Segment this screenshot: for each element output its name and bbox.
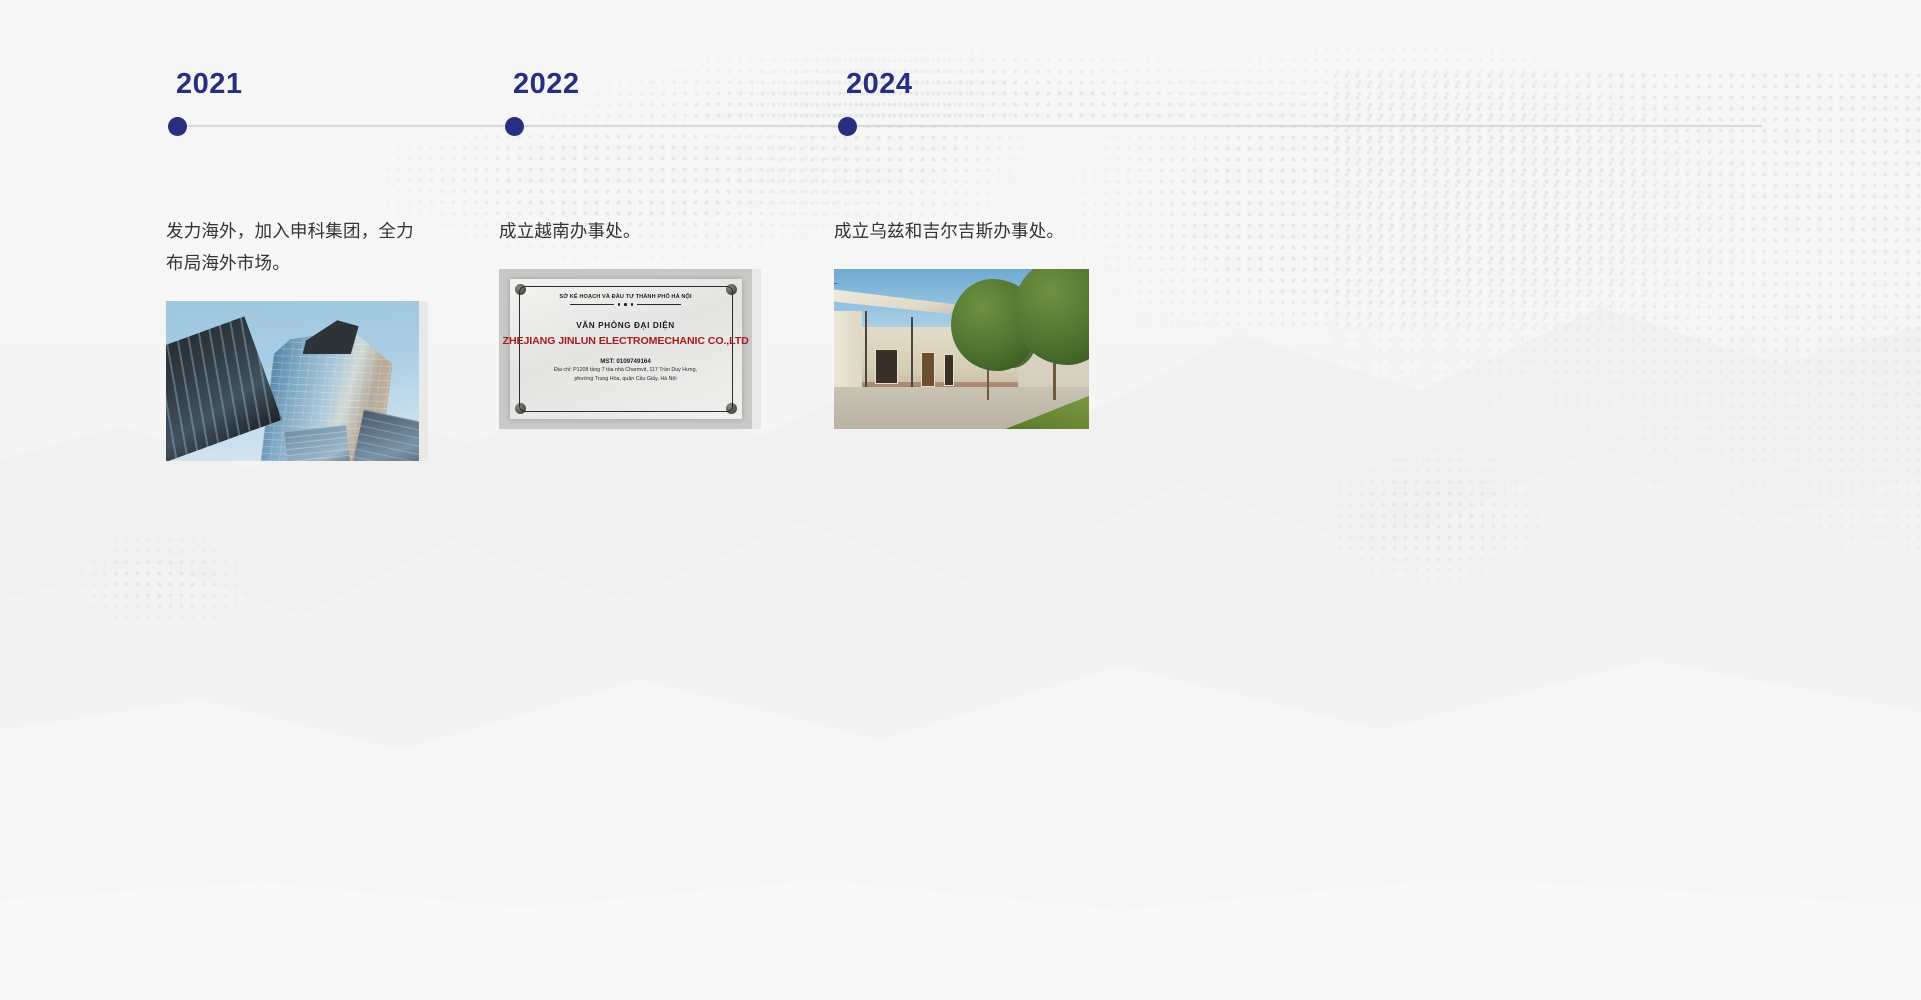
plaque-tax-code: MST: 0109749164 (600, 358, 651, 365)
plaque-board: SỞ KẾ HOẠCH VÀ ĐẦU TƯ THÀNH PHỐ HÀ NỘI V… (510, 279, 742, 419)
milestone-item-2021: 发力海外，加入申科集团，全力布局海外市场。 (166, 215, 428, 461)
milestone-item-2024: 成立乌兹和吉尔吉斯办事处。 (834, 215, 1134, 429)
plaque-photo-canvas: SỞ KẾ HOẠCH VÀ ĐẦU TƯ THÀNH PHỐ HÀ NỘI V… (499, 269, 752, 429)
milestone-item-2022: 成立越南办事处。 SỞ KẾ HOẠCH VÀ ĐẦU TƯ THÀNH PHỐ… (499, 215, 761, 429)
window-shape (921, 352, 935, 387)
window-shape (944, 354, 954, 386)
vietnam-office-plaque-photo[interactable]: SỞ KẾ HOẠCH VÀ ĐẦU TƯ THÀNH PHỐ HÀ NỘI V… (499, 269, 761, 429)
milestone-description: 成立越南办事处。 (499, 215, 761, 247)
window-shape (875, 349, 898, 384)
milestone-description: 发力海外，加入申科集团，全力布局海外市场。 (166, 215, 428, 279)
plaque-company-name: ZHEJIANG JINLUN ELECTROMECHANIC CO.,LTD (502, 336, 748, 347)
courtyard-photo-canvas (834, 269, 1089, 429)
plaque-inner-border: SỞ KẾ HOẠCH VÀ ĐẦU TƯ THÀNH PHỐ HÀ NỘI V… (519, 286, 733, 412)
uzbekistan-office-photo[interactable] (834, 269, 1089, 429)
plaque-authority-line: SỞ KẾ HOẠCH VÀ ĐẦU TƯ THÀNH PHỐ HÀ NỘI (559, 294, 691, 300)
skyscraper-photo[interactable] (166, 301, 428, 461)
plaque-address-line-2: phường Trung Hòa, quận Cầu Giấy, Hà Nội (574, 376, 676, 382)
milestone-description: 成立乌兹和吉尔吉斯办事处。 (834, 215, 1134, 247)
downpipe-shape (911, 317, 914, 387)
plaque-divider (551, 303, 701, 306)
skyscraper-photo-canvas (166, 301, 419, 461)
downpipe-shape (865, 311, 868, 388)
plaque-office-type: VĂN PHÒNG ĐẠI DIỆN (576, 321, 675, 330)
plaque-address-line-1: Địa chỉ: P1208 tầng 7 tòa nhà Charmvit, … (554, 367, 697, 373)
timeline-page: 2021 2022 2024 发力海外，加入申科集团，全力布局海外市场。 (0, 0, 1921, 1000)
milestone-list: 发力海外，加入申科集团，全力布局海外市场。 成立越南办事处。 (0, 0, 1921, 1000)
mid-building-shape (285, 425, 352, 461)
